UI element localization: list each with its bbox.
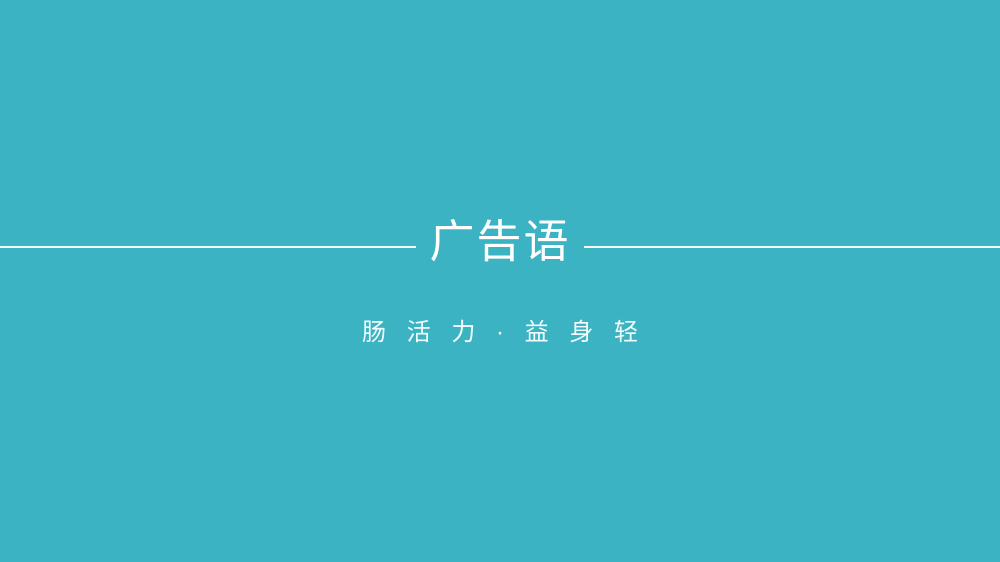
slide-canvas: 广告语 肠 活 力 · 益 身 轻 [0,0,1000,562]
slide-subtitle-text: 肠 活 力 · 益 身 轻 [355,316,645,350]
slide-title-text: 广告语 [429,214,570,270]
slide-subtitle: 肠 活 力 · 益 身 轻 [0,316,1000,350]
slide-title: 广告语 [0,214,1000,270]
